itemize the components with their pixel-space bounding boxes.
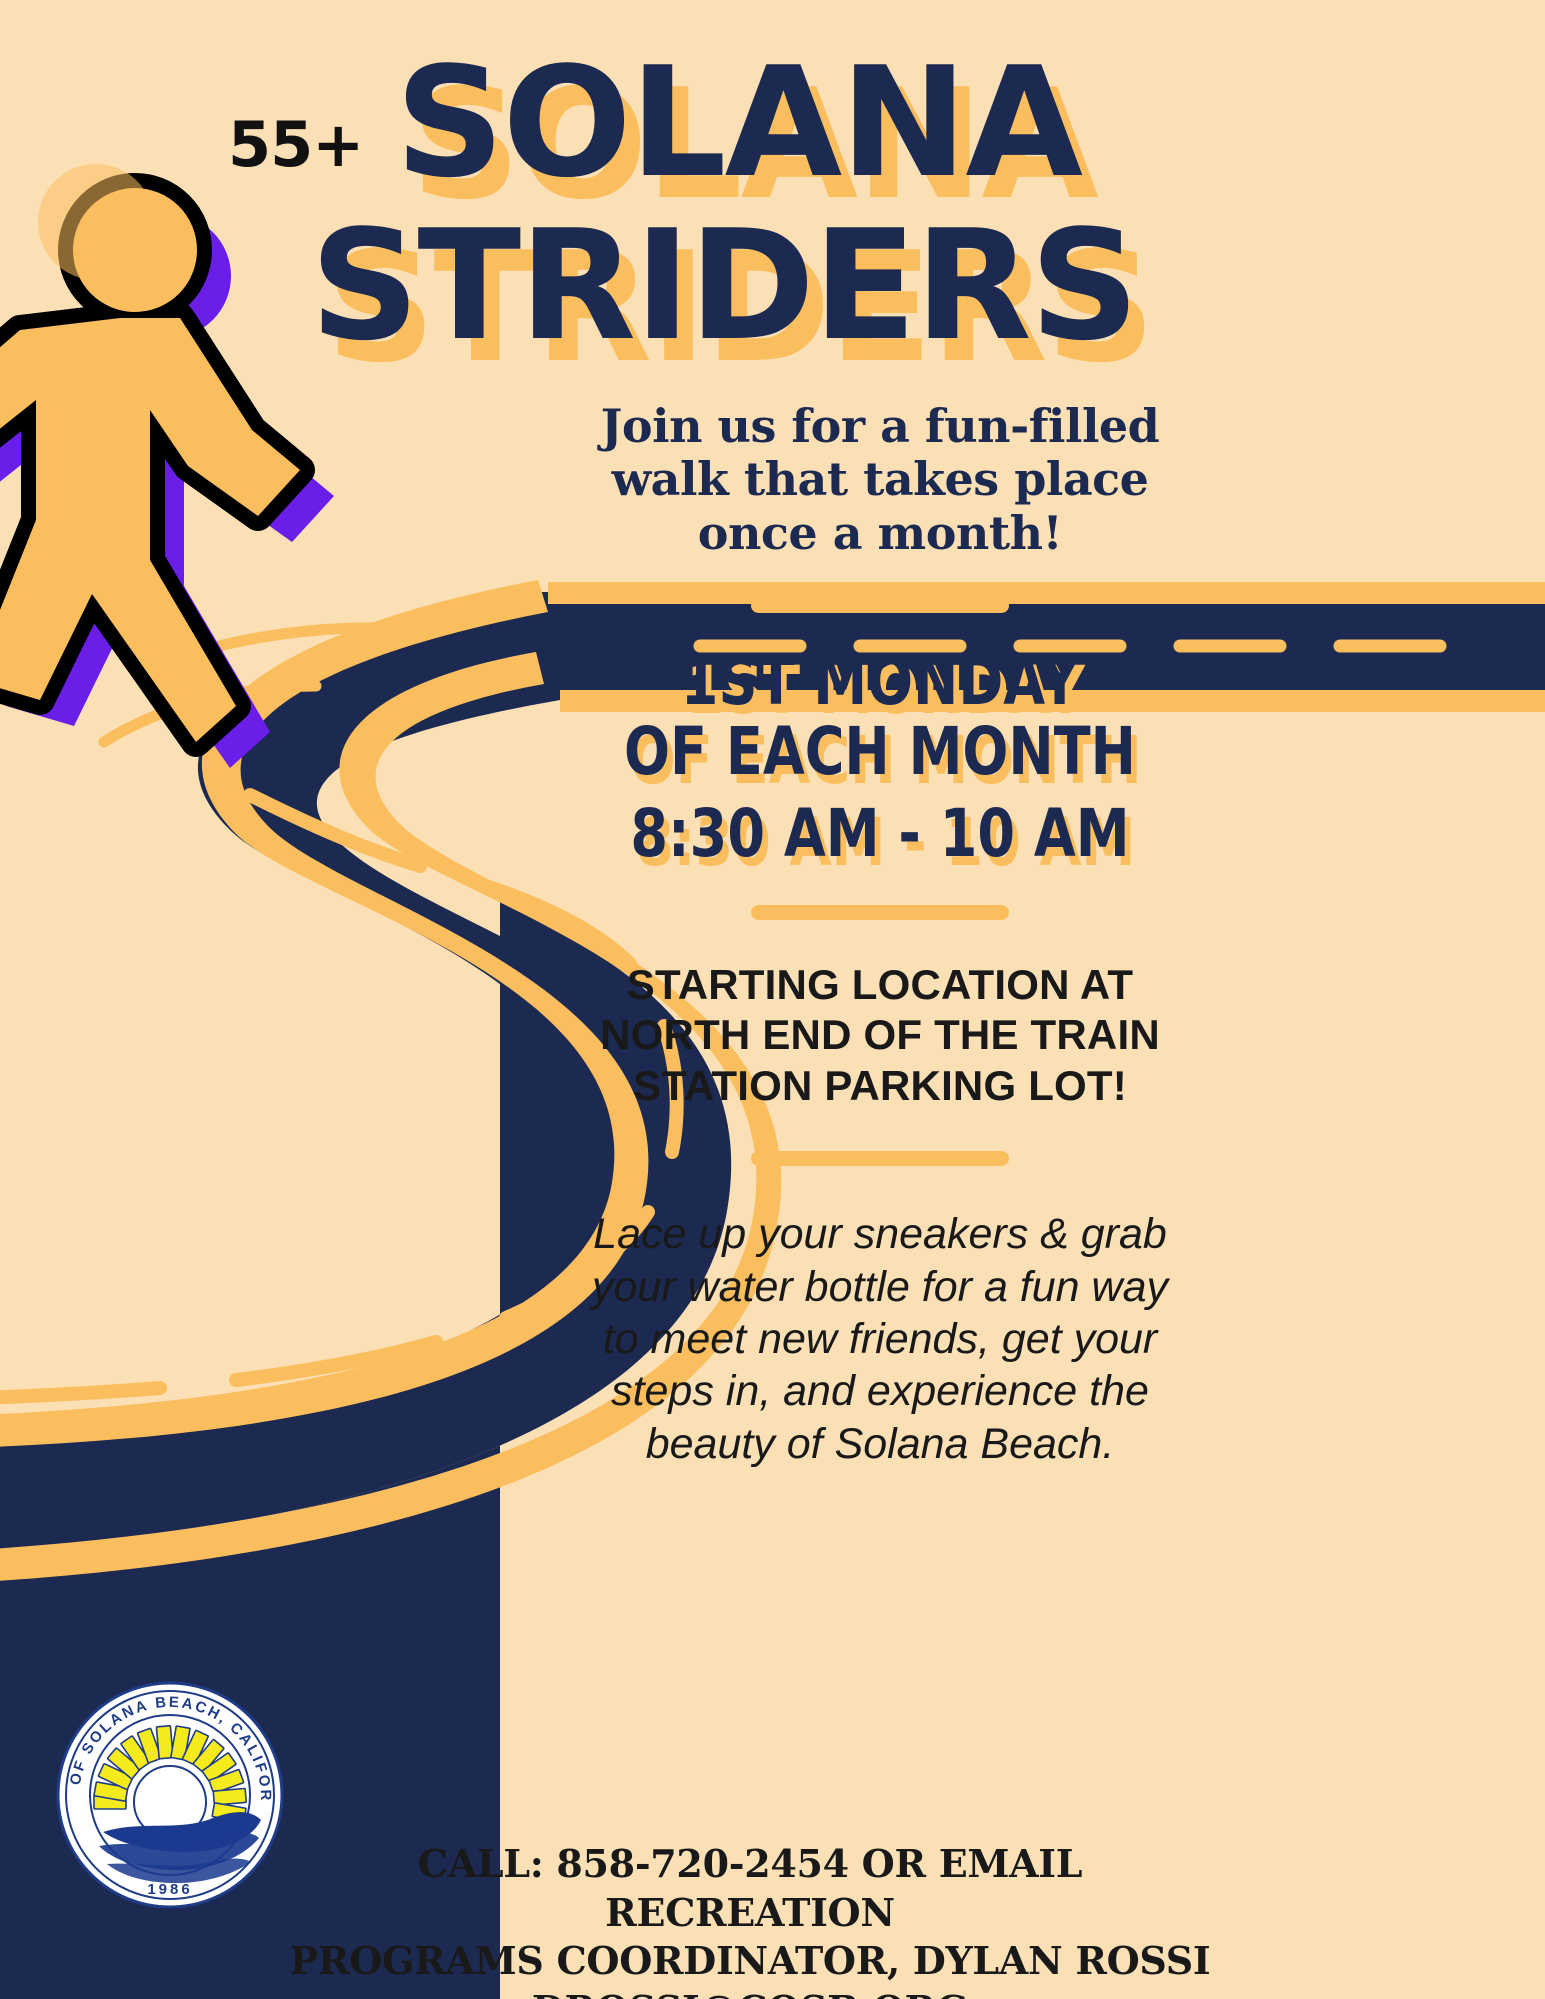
city-of-solana-beach-seal: CITY OF SOLANA BEACH, CALIFORNIA 1986 [55,1680,285,1910]
location-line-1: STARTING LOCATION AT [627,961,1133,1008]
schedule-day-line-2: OF EACH MONTH [624,713,1136,790]
schedule-text: 1ST MONDAY OF EACH MONTH 8:30 AM - 10 AM [618,647,1143,869]
walking-person-icon [0,164,334,768]
page-title-line-1: SOLANA [395,52,1081,195]
age-badge: 55+ [228,108,363,181]
schedule-day-line-1: 1ST MONDAY [681,643,1079,720]
flyer-canvas: 55+ SOLANA STRIDERS Join us for a fun-fi… [0,0,1545,1999]
starting-location-text: STARTING LOCATION AT NORTH END OF THE TR… [560,960,1200,1111]
location-line-3: STATION PARKING LOT! [633,1062,1127,1109]
intro-line-2: walk that takes place [612,452,1149,506]
blurb-line-1: Lace up your sneakers & grab [593,1210,1167,1258]
blurb-line-3: to meet new friends, get your [603,1315,1158,1363]
intro-line-3: once a month! [698,506,1062,560]
seal-year: 1986 [147,1881,192,1898]
page-title-line-2: STRIDERS [310,215,1137,358]
intro-text: Join us for a fun-filled walk that takes… [560,400,1200,560]
description-text: Lace up your sneakers & grab your water … [560,1208,1200,1470]
divider-rule-3 [751,1151,1009,1166]
location-line-2: NORTH END OF THE TRAIN [600,1011,1160,1058]
divider-rule-2 [751,905,1009,920]
divider-rule-1 [751,598,1009,613]
blurb-line-5: beauty of Solana Beach. [646,1420,1115,1468]
contact-block: CALL: 858-720-2454 OR EMAIL RECREATION P… [270,1840,1230,1999]
contact-coordinator-line: PROGRAMS COORDINATOR, DYLAN ROSSI [270,1937,1230,1986]
schedule-time: 8:30 AM - 10 AM [618,799,1143,869]
blurb-line-4: steps in, and experience the [611,1367,1149,1415]
contact-email-line[interactable]: DROSSI@COSB.ORG [270,1986,1230,1999]
intro-line-1: Join us for a fun-filled [601,399,1160,453]
contact-phone-line[interactable]: CALL: 858-720-2454 OR EMAIL RECREATION [270,1840,1230,1937]
content-column: Join us for a fun-filled walk that takes… [560,400,1200,1470]
blurb-line-2: your water bottle for a fun way [592,1263,1168,1311]
